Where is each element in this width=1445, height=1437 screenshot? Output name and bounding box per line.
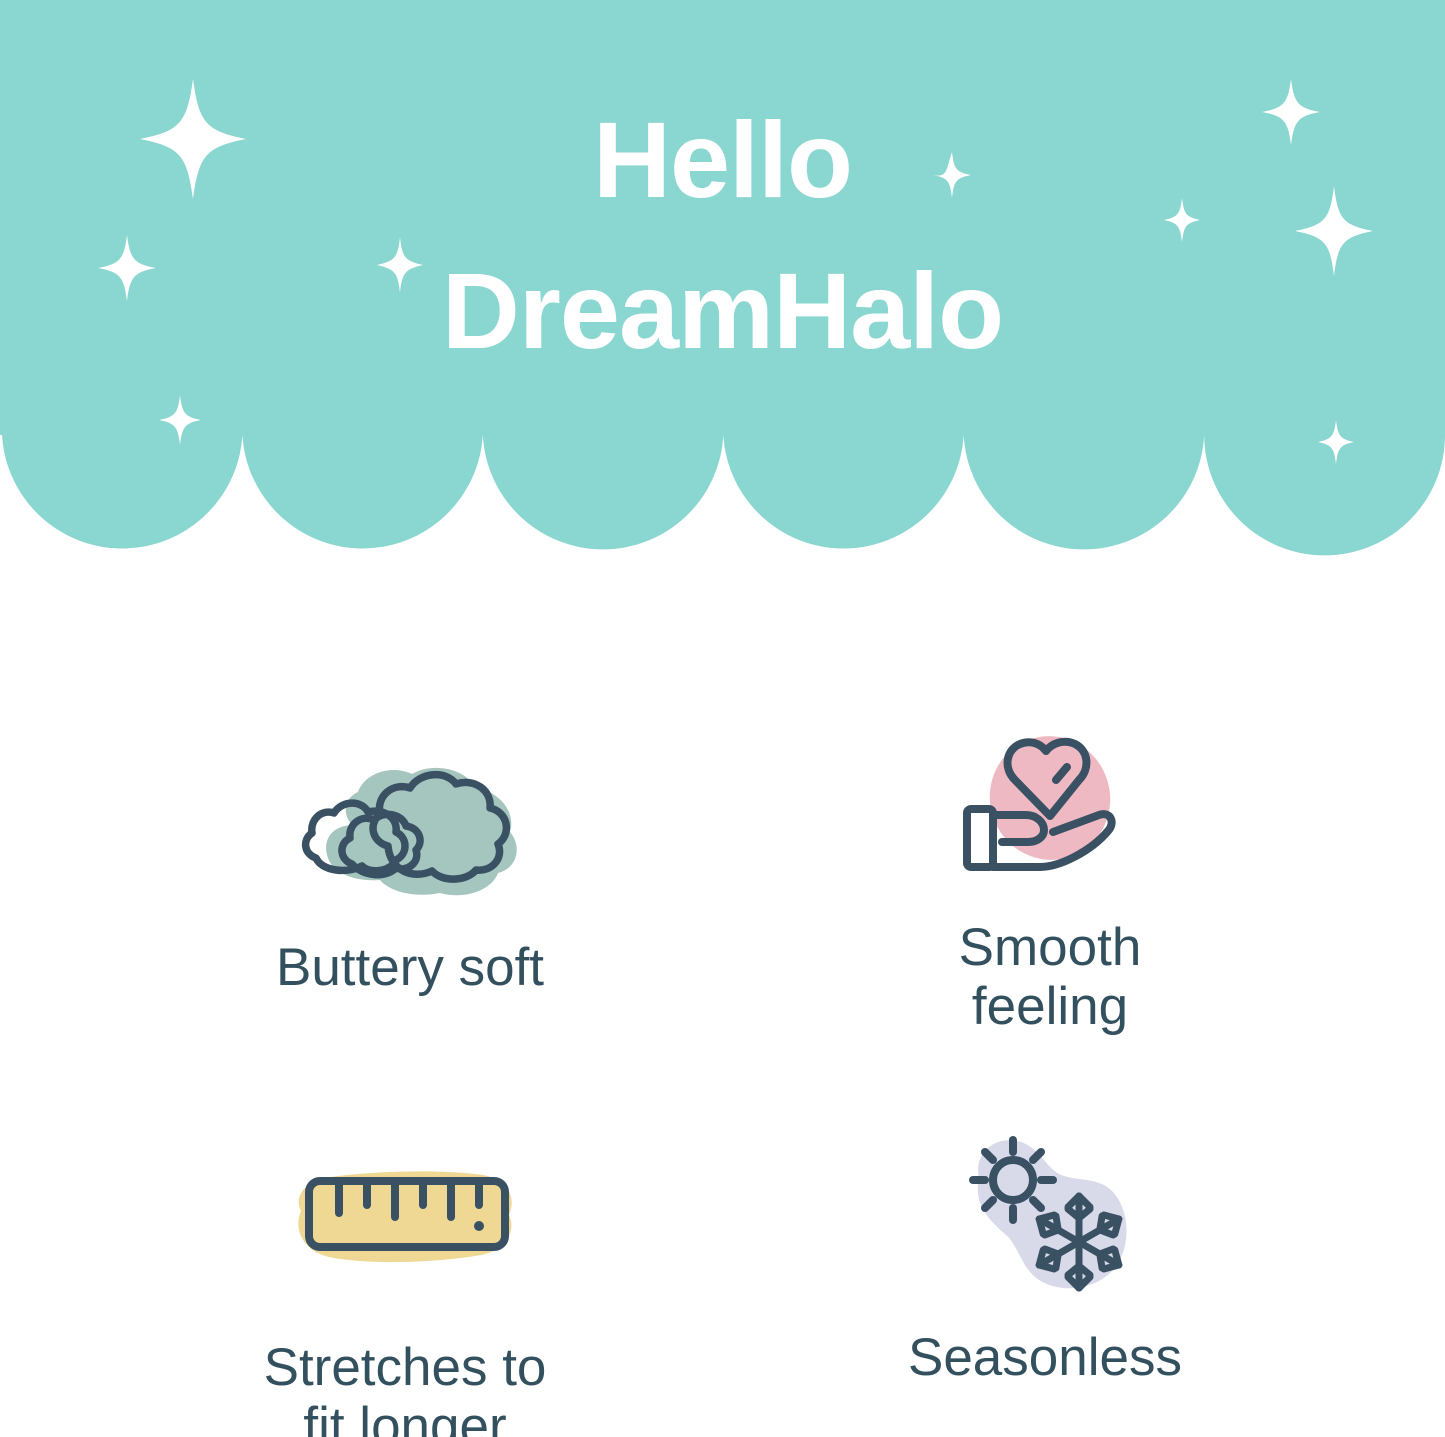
hero-background-shape xyxy=(0,0,1445,560)
feature-grid: Buttery soft xyxy=(0,560,1445,1437)
feature-item-smooth-feeling: Smooth feeling xyxy=(800,710,1300,1037)
feature-label-seasonless: Seasonless xyxy=(908,1328,1182,1387)
feature-item-seasonless: Seasonless xyxy=(790,1120,1300,1387)
feature-label-smooth-feeling: Smooth feeling xyxy=(959,918,1142,1037)
hero-banner: Hello DreamHalo xyxy=(0,0,1445,560)
feature-item-stretches: Stretches to fit longer xyxy=(150,1130,660,1437)
feature-label-stretches: Stretches to fit longer xyxy=(264,1338,547,1437)
ruler-icon xyxy=(275,1130,535,1310)
product-feature-card: Hello DreamHalo xyxy=(0,0,1445,1437)
hand-heart-icon xyxy=(940,710,1160,890)
clouds-icon xyxy=(260,730,560,910)
feature-item-buttery-soft: Buttery soft xyxy=(160,730,660,997)
sun-snowflake-icon xyxy=(935,1120,1155,1300)
feature-label-buttery-soft: Buttery soft xyxy=(276,938,544,997)
